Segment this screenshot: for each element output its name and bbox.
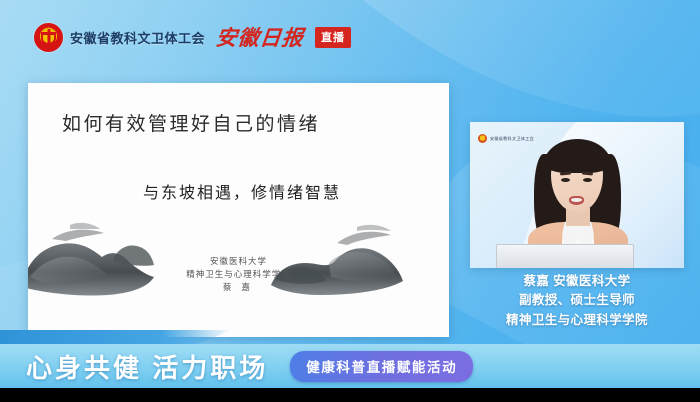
credit-school: 精神卫生与心理科学学院 [28,268,449,281]
credit-university: 安徽医科大学 [28,255,449,268]
speaker-mouth [569,196,584,205]
speaker-department: 精神卫生与心理科学学院 [470,311,684,330]
header-branding: 安徽省教科文卫体工会 安徽日报 直播 [34,22,351,52]
speaker-laptop [496,244,634,268]
banner-slogan: 心身共健 活力职场 [26,348,268,385]
slide-title: 如何有效管理好自己的情绪 [62,109,320,136]
union-emblem-ring [41,32,56,45]
union-emblem-icon [478,134,487,143]
banner-campaign-pill: 健康科普直播赋能活动 [290,351,473,382]
slide-subtitle: 与东坡相遇，修情绪智慧 [143,179,341,203]
organization-name: 安徽省教科文卫体工会 [70,28,205,47]
live-badge: 直播 [315,27,351,48]
speaker-info-caption: 蔡嘉 安徽医科大学 副教授、硕士生导师 精神卫生与心理科学学院 [470,272,684,330]
newspaper-brand: 安徽日报 [214,22,305,52]
speaker-title: 副教授、硕士生导师 [470,291,684,310]
speaker-eye-left [561,178,570,182]
union-emblem-icon [34,23,63,52]
letterbox-bar [0,388,700,402]
credit-author: 蔡 嘉 [28,281,449,294]
bottom-banner: 心身共健 活力职场 健康科普直播赋能活动 [0,344,700,388]
video-watermark: 安徽省教科文卫体工会 [478,134,534,143]
broadcast-screen: 安徽省教科文卫体工会 安徽日报 直播 [0,0,700,402]
speaker-name-affiliation: 蔡嘉 安徽医科大学 [470,272,684,291]
watermark-label: 安徽省教科文卫体工会 [490,136,534,142]
presentation-slide: 如何有效管理好自己的情绪 与东坡相遇，修情绪智慧 安徽医科大学 精神卫生与心理科… [28,83,449,337]
speaker-eye-right [583,178,592,182]
speaker-video-panel[interactable]: 安徽省教科文卫体工会 [470,122,684,268]
slide-credit: 安徽医科大学 精神卫生与心理科学学院 蔡 嘉 [28,255,449,295]
